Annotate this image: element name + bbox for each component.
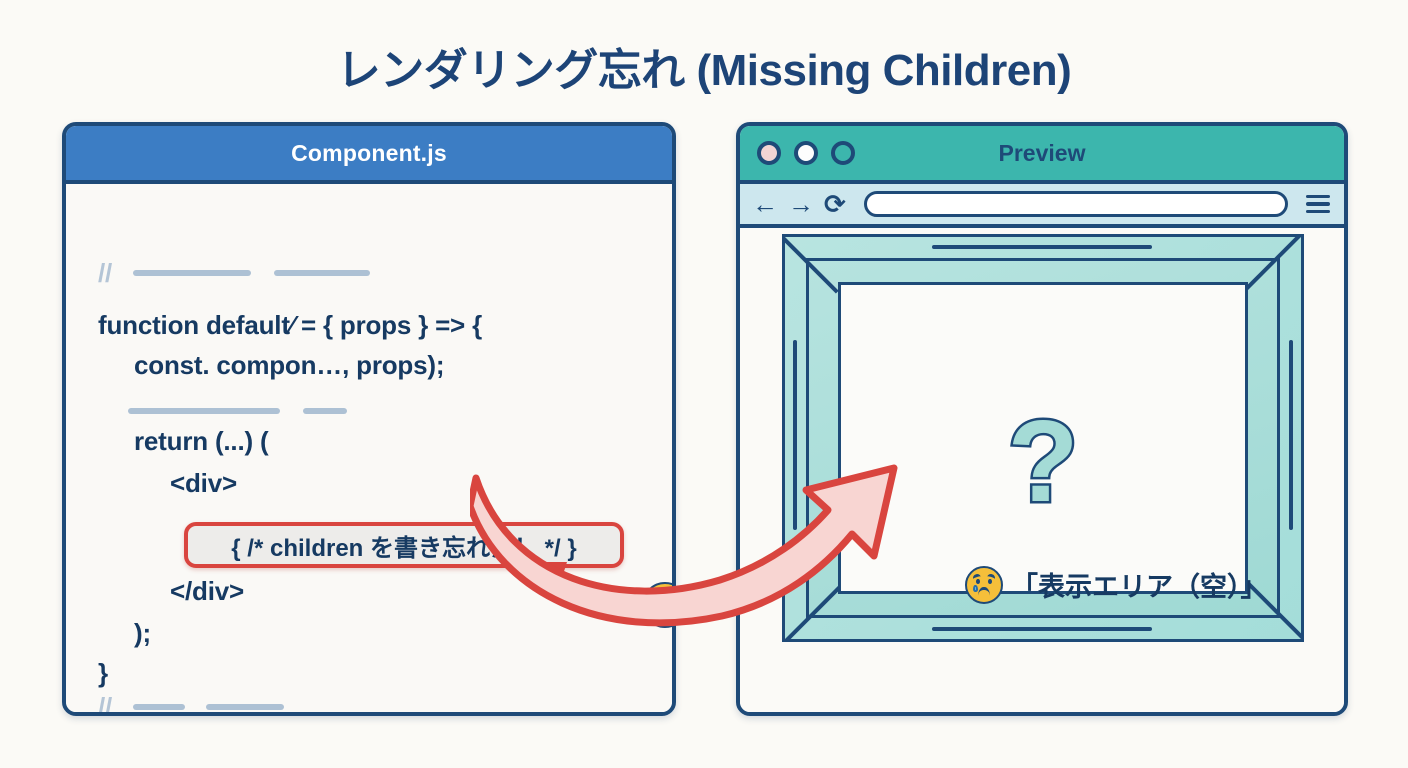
- comment-placeholder-bar: [133, 704, 185, 710]
- minimize-button-dot[interactable]: [794, 141, 818, 165]
- url-input[interactable]: [864, 191, 1288, 217]
- crying-face-icon: [965, 566, 1003, 604]
- code-line-const: const. compon…, props);: [134, 350, 444, 381]
- maximize-button-dot[interactable]: [831, 141, 855, 165]
- code-line-comment-top: //: [98, 258, 370, 289]
- code-line-return: return (...) (: [134, 426, 268, 457]
- code-placeholder-bar: [128, 408, 280, 414]
- frame-groove-left: [793, 340, 797, 530]
- forward-arrow-icon[interactable]: →: [788, 191, 814, 217]
- preview-canvas: ? 「表示エリア（空）」: [740, 228, 1344, 712]
- frame-groove-bottom: [932, 627, 1152, 631]
- missing-children-text: { /* children を書き忘れた！ */ }: [231, 528, 576, 563]
- code-window: Component.js // function default⁄ = { pr…: [62, 122, 676, 716]
- close-button-dot[interactable]: [757, 141, 781, 165]
- back-arrow-icon[interactable]: ←: [752, 191, 778, 217]
- browser-toolbar: ← → ⟳: [740, 184, 1344, 228]
- code-line-comment-bottom: //: [98, 692, 284, 716]
- question-mark-icon: ?: [841, 403, 1245, 519]
- code-line-function-signature: function default⁄ = { props } => {: [98, 310, 482, 341]
- code-editor-body[interactable]: // function default⁄ = { props } => { co…: [66, 184, 672, 712]
- page-title: レンダリング忘れ (Missing Children): [0, 34, 1408, 98]
- hamburger-menu-icon[interactable]: [1306, 195, 1330, 214]
- comment-placeholder-bar: [274, 270, 370, 276]
- missing-children-callout-tail: [546, 562, 567, 584]
- code-window-title: Component.js: [291, 140, 447, 167]
- traffic-lights[interactable]: [757, 141, 855, 165]
- reload-icon[interactable]: ⟳: [824, 191, 846, 217]
- empty-area-caption: 「表示エリア（空）」: [965, 565, 1268, 604]
- code-line-brace-close: }: [98, 658, 108, 689]
- frame-groove-right: [1289, 340, 1293, 530]
- empty-display-frame: ? 「表示エリア（空）」: [782, 234, 1304, 642]
- crying-face-icon: [642, 582, 676, 628]
- code-placeholder-bar: [303, 408, 347, 414]
- code-line-placeholder: [128, 396, 347, 427]
- empty-area-caption-text: 「表示エリア（空）」: [1011, 565, 1268, 604]
- frame-groove-top: [932, 245, 1152, 249]
- frame-mat-area: ? 「表示エリア（空）」: [838, 282, 1248, 594]
- preview-window-titlebar: Preview: [740, 126, 1344, 184]
- code-line-paren-close: );: [134, 618, 151, 649]
- code-window-titlebar: Component.js: [66, 126, 672, 184]
- preview-window: Preview ← → ⟳ ?: [736, 122, 1348, 716]
- code-line-div-open: <div>: [170, 468, 237, 499]
- comment-placeholder-bar: [133, 270, 251, 276]
- code-line-div-close: </div>: [170, 576, 244, 607]
- comment-placeholder-bar: [206, 704, 284, 710]
